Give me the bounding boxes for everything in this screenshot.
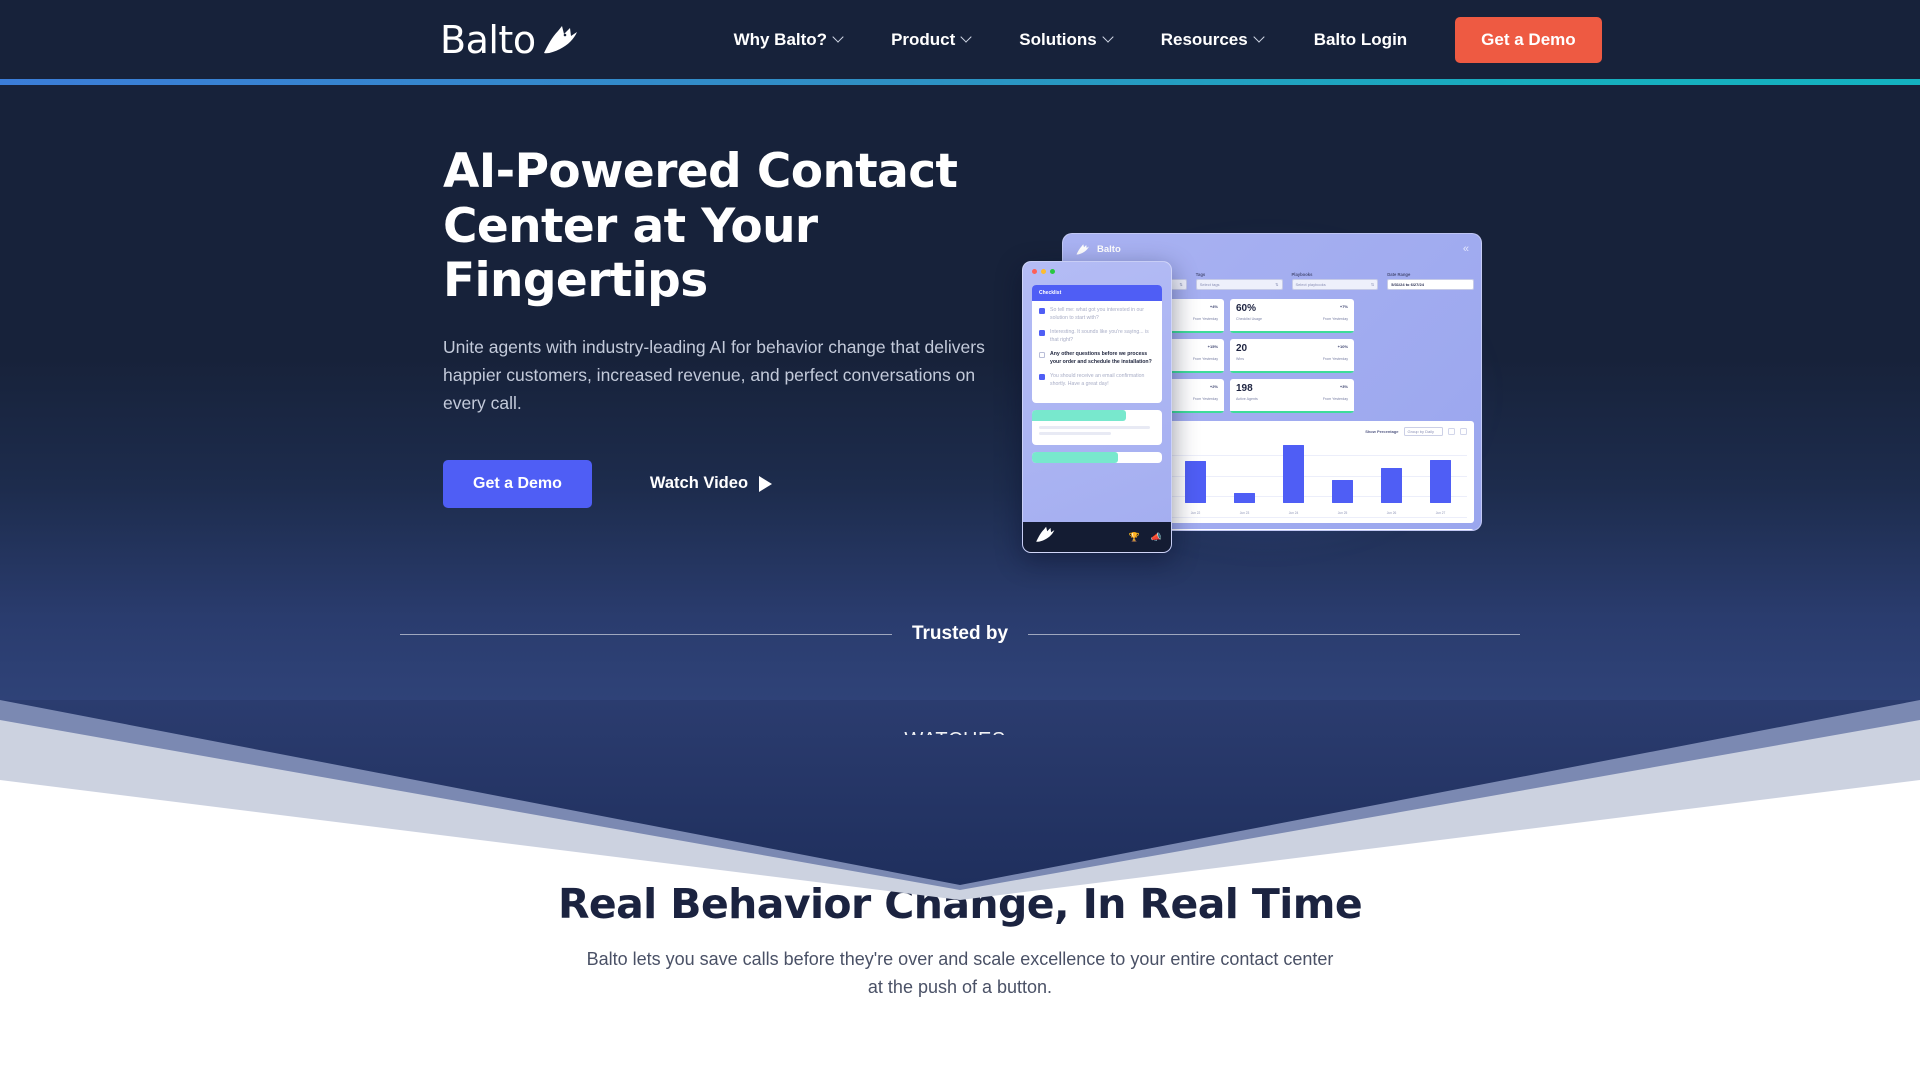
stat-sublabel: From Yesterday — [1323, 317, 1348, 321]
stat-sublabel: From Yesterday — [1193, 357, 1218, 361]
tags-select[interactable]: Select tags ⇅ — [1196, 279, 1283, 290]
checkbox-checked-icon[interactable] — [1039, 330, 1045, 336]
checklist-item[interactable]: You should receive an email confirmation… — [1039, 373, 1155, 388]
filter-value: Select playbooks — [1296, 282, 1326, 287]
stat-value: 20 — [1236, 344, 1247, 354]
stat-label: Wins — [1236, 357, 1244, 361]
chevron-down-icon — [1255, 33, 1264, 42]
chevron-down-icon — [1104, 33, 1113, 42]
chart-x-axis-labels: Jun 21Jun 22Jun 23Jun 24Jun 25Jun 26Jun … — [1122, 511, 1465, 515]
expand-icon[interactable] — [1460, 428, 1467, 435]
chart-x-label: Jun 27 — [1430, 511, 1451, 515]
chart-bar — [1185, 461, 1206, 503]
window-titlebar — [1023, 262, 1171, 280]
customer-logos: staples[] EMPIRETODAY 800-588-2300 WATCH… — [0, 730, 1920, 735]
alert-highlight — [1032, 410, 1126, 421]
staples-logo: staples[] — [435, 730, 594, 735]
stat-delta: +2% — [1210, 384, 1218, 389]
checkbox-unchecked-icon[interactable] — [1039, 352, 1045, 358]
play-icon — [759, 476, 772, 492]
filter-value: Select tags — [1200, 282, 1220, 287]
panel-tools: Show Percentage Group by Daily — [1365, 427, 1467, 436]
playbooks-select[interactable]: Select playbooks ⇅ — [1292, 279, 1379, 290]
stat-card: 198+3% Active AgentsFrom Yesterday — [1230, 379, 1354, 413]
close-dot-icon[interactable] — [1032, 269, 1037, 274]
checklist-item[interactable]: Interesting. It sounds like you're sayin… — [1039, 329, 1155, 344]
balto-logo[interactable]: Balto — [440, 21, 580, 59]
skeleton-line — [1039, 426, 1150, 429]
nav-item-resources[interactable]: Resources — [1137, 30, 1288, 50]
guidance-footer: 🏆 📣 — [1023, 522, 1172, 552]
trusted-by-label: Trusted by — [912, 623, 1008, 645]
show-percentage-toggle[interactable]: Show Percentage — [1365, 429, 1398, 434]
stat-value: 198 — [1236, 384, 1253, 394]
checklist-item-text: Interesting. It sounds like you're sayin… — [1050, 329, 1155, 344]
chart-bar — [1234, 493, 1255, 503]
chart-x-label: Jun 23 — [1234, 511, 1255, 515]
top-navigation-bar: Balto Why Balto? Product — [0, 0, 1920, 79]
nav-item-why-balto[interactable]: Why Balto? — [710, 30, 868, 50]
nav-links: Why Balto? Product Solutions Resources B… — [710, 17, 1602, 63]
chart-bar — [1283, 445, 1304, 503]
filter-label: Date Range — [1387, 272, 1474, 277]
date-range-input[interactable]: 5/31/24 to 6/27/24 — [1387, 279, 1474, 290]
realtime-guidance-window: Checklist So tell me: what got you inter… — [1022, 261, 1172, 553]
stat-label: Active Agents — [1236, 397, 1258, 401]
double-chevron-left-icon[interactable]: « — [1463, 243, 1469, 255]
balto-dog-icon — [540, 23, 580, 57]
watch-video-button[interactable]: Watch Video — [650, 474, 772, 493]
stat-delta: +15% — [1208, 344, 1218, 349]
nav-item-product[interactable]: Product — [867, 30, 995, 50]
footer-icons: 🏆 📣 — [1129, 532, 1162, 543]
hero-cta-group: Get a Demo Watch Video — [443, 460, 1003, 508]
chevron-down-icon — [962, 33, 971, 42]
hero-section: AI-Powered Contact Center at Your Finger… — [0, 85, 1920, 735]
dashboard-app-name: Balto — [1097, 244, 1121, 255]
stat-accent-rule — [1230, 331, 1354, 333]
chart-bar — [1332, 480, 1353, 503]
watches-line1: WATCHES — [904, 730, 1053, 735]
stat-sublabel: From Yesterday — [1193, 397, 1218, 401]
stat-delta: +3% — [1340, 384, 1348, 389]
checklist-item[interactable]: So tell me: what got you interested in o… — [1039, 307, 1155, 322]
nav-inner: Balto Why Balto? Product — [0, 17, 1920, 63]
stat-delta: +7% — [1340, 304, 1348, 309]
stat-sublabel: From Yesterday — [1323, 357, 1348, 361]
filter-date-range: Date Range 5/31/24 to 6/27/24 — [1387, 272, 1474, 290]
nav-item-label: Resources — [1161, 30, 1248, 50]
watches-of-switzerland-logo: WATCHES SWITZERLAND — [904, 730, 1053, 735]
balto-login-link[interactable]: Balto Login — [1288, 30, 1433, 50]
maximize-dot-icon[interactable] — [1050, 269, 1055, 274]
staples-wordmark: staples — [435, 730, 571, 735]
checklist-item[interactable]: Any other questions before we process yo… — [1039, 351, 1155, 366]
megaphone-icon[interactable]: 📣 — [1151, 532, 1162, 543]
section-subtitle: Balto lets you save calls before they're… — [580, 946, 1340, 1002]
nav-item-label: Solutions — [1019, 30, 1096, 50]
nav-item-label: Why Balto? — [734, 30, 828, 50]
checklist-title: Checklist — [1032, 285, 1162, 301]
divider-line-left — [400, 634, 892, 635]
chevron-down-icon — [834, 33, 843, 42]
chart-bar — [1381, 468, 1402, 503]
select-arrows-icon: ⇅ — [1179, 282, 1182, 287]
hero-content: AI-Powered Contact Center at Your Finger… — [443, 145, 1003, 508]
logo-wordmark: Balto — [440, 21, 536, 59]
filter-playbooks: Playbooks Select playbooks ⇅ — [1292, 272, 1379, 290]
chart-x-label: Jun 24 — [1283, 511, 1304, 515]
get-a-demo-button-nav[interactable]: Get a Demo — [1455, 17, 1601, 63]
balto-dog-icon — [1034, 525, 1056, 549]
stat-delta: +10% — [1338, 344, 1348, 349]
trusted-by-divider: Trusted by — [0, 623, 1920, 645]
stat-sublabel: From Yesterday — [1323, 397, 1348, 401]
stat-label: Checklist Usage — [1236, 317, 1262, 321]
group-by-select[interactable]: Group by Daily — [1404, 427, 1443, 436]
stat-accent-rule — [1230, 371, 1354, 373]
guidance-content: Checklist So tell me: what got you inter… — [1023, 280, 1171, 463]
trusted-by-row: Trusted by — [0, 623, 1920, 645]
stat-delta: +4% — [1210, 304, 1218, 309]
filter-label: Tags — [1196, 272, 1283, 277]
nav-item-solutions[interactable]: Solutions — [995, 30, 1136, 50]
chart-bar — [1430, 460, 1451, 503]
nav-item-label: Product — [891, 30, 955, 50]
alert-card — [1032, 410, 1162, 445]
get-a-demo-button-hero[interactable]: Get a Demo — [443, 460, 592, 508]
select-arrows-icon: ⇅ — [1371, 282, 1374, 287]
filter-value: 5/31/24 to 6/27/24 — [1391, 282, 1424, 287]
checklist-card: Checklist So tell me: what got you inter… — [1032, 285, 1162, 403]
alert-card — [1032, 452, 1162, 463]
checklist-items: So tell me: what got you interested in o… — [1032, 301, 1162, 403]
alert-body — [1032, 421, 1162, 445]
watch-video-label: Watch Video — [650, 474, 748, 493]
checklist-item-text: You should receive an email confirmation… — [1050, 373, 1155, 388]
stat-accent-rule — [1230, 411, 1354, 413]
filter-label: Playbooks — [1292, 272, 1379, 277]
select-arrows-icon: ⇅ — [1275, 282, 1278, 287]
chart-x-label: Jun 22 — [1185, 511, 1206, 515]
checklist-item-text: So tell me: what got you interested in o… — [1050, 307, 1155, 322]
product-screenshot-mockup: Balto « Agents Select agents ⇅ — [1022, 223, 1502, 563]
checklist-item-text: Any other questions before we process yo… — [1050, 351, 1155, 366]
stat-value: 60% — [1236, 304, 1256, 314]
filter-tags: Tags Select tags ⇅ — [1196, 272, 1283, 290]
chart-x-label: Jun 25 — [1332, 511, 1353, 515]
stat-card: 60%+7% Checklist UsageFrom Yesterday — [1230, 299, 1354, 333]
hero-title: AI-Powered Contact Center at Your Finger… — [443, 145, 1003, 309]
chart-x-label: Jun 26 — [1381, 511, 1402, 515]
minimize-dot-icon[interactable] — [1041, 269, 1046, 274]
alert-highlight — [1032, 452, 1118, 463]
chart-bars — [1122, 441, 1465, 503]
stat-card: 20+10% WinsFrom Yesterday — [1230, 339, 1354, 373]
hero-subtitle: Unite agents with industry-leading AI fo… — [443, 333, 995, 418]
balto-dog-icon — [1075, 243, 1090, 256]
landing-page: Balto Why Balto? Product — [0, 0, 1920, 1080]
staples-bracket-mark: [] — [573, 733, 594, 735]
trophy-icon[interactable]: 🏆 — [1129, 532, 1140, 543]
dashboard-titlebar: Balto « — [1063, 234, 1481, 264]
skeleton-line — [1039, 432, 1111, 435]
divider-line-right — [1028, 634, 1520, 635]
stat-sublabel: From Yesterday — [1193, 317, 1218, 321]
accent-gradient-bar — [0, 79, 1920, 85]
checkbox-checked-icon[interactable] — [1039, 374, 1045, 380]
checkbox-checked-icon[interactable] — [1039, 308, 1045, 314]
download-icon[interactable] — [1448, 428, 1455, 435]
